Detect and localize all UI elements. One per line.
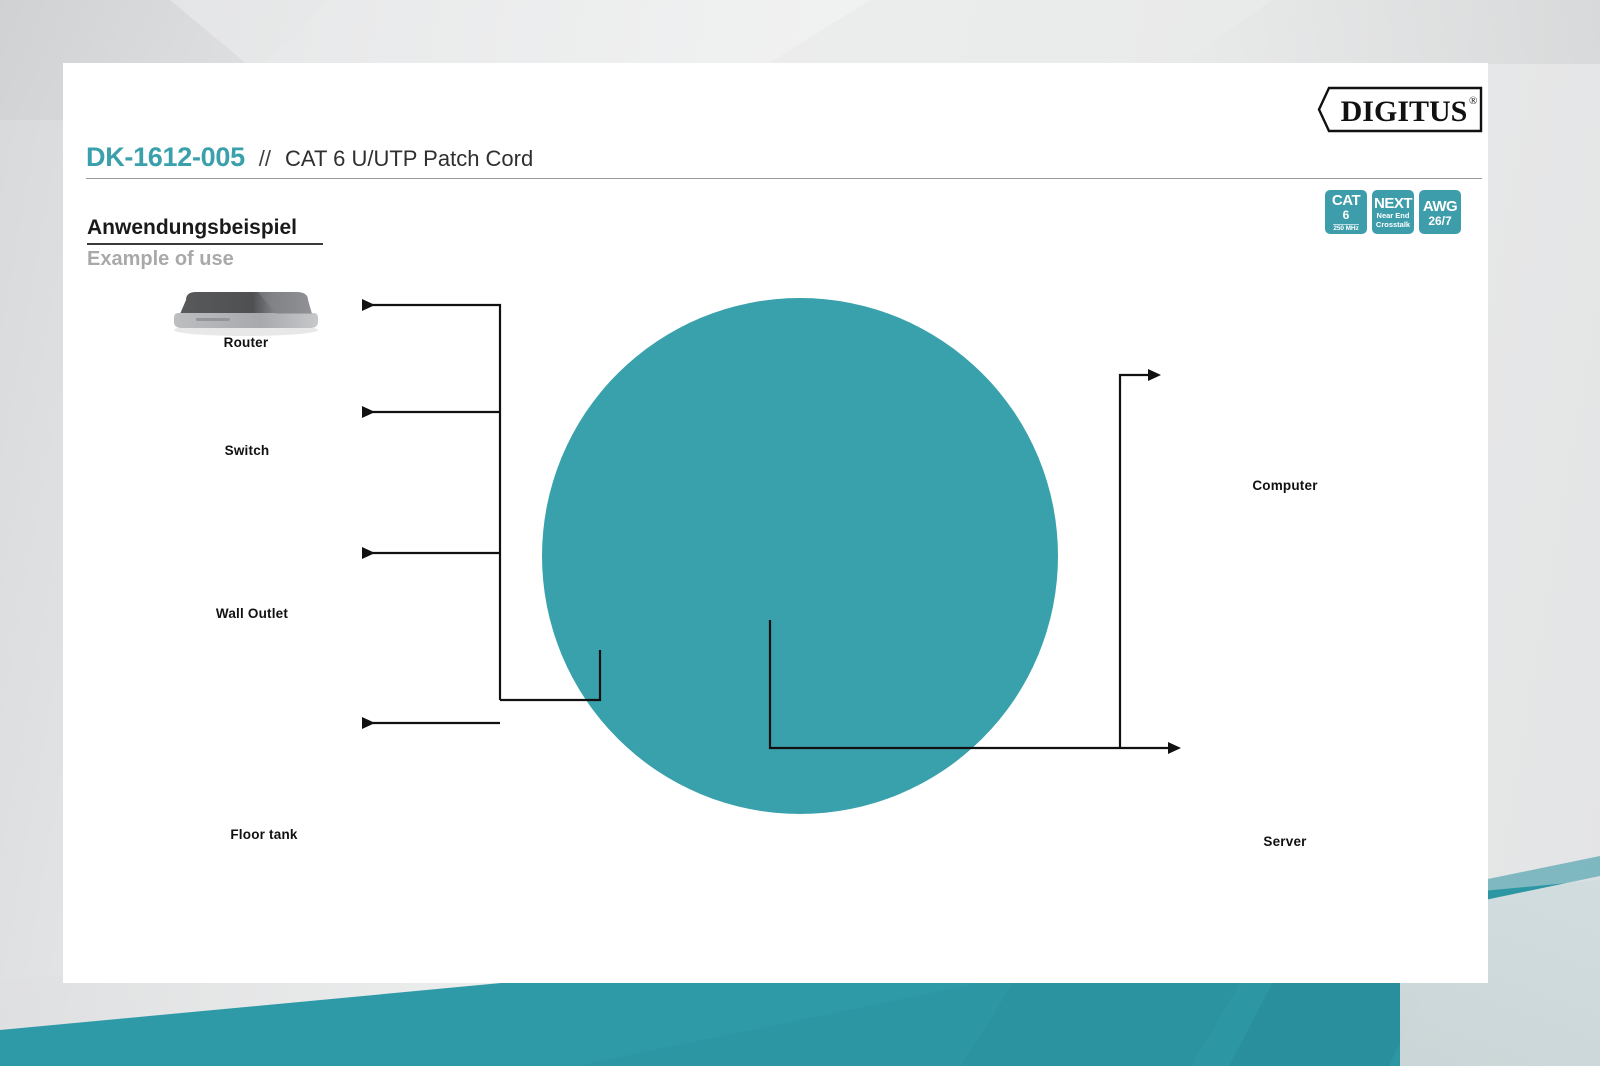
section-heading-en: Example of use [87,248,234,271]
badge-awg-sub: 26/7 [1428,215,1451,228]
badge-next-main: NEXT [1374,196,1412,212]
badge-cat6-sub: 6 [1343,209,1350,222]
title-divider [86,178,1482,179]
certification-badges: CAT 6 250 MHz NEXT Near End Crosstalk AW… [1325,190,1461,234]
product-name: CAT 6 U/UTP Patch Cord [285,146,533,172]
slide-canvas: DIGITUS ® DK-1612-005 // CAT 6 U/UTP Pat… [0,0,1600,1066]
badge-awg: AWG 26/7 [1419,190,1461,234]
badge-cat6: CAT 6 250 MHz [1325,190,1367,234]
badge-awg-main: AWG [1423,199,1457,215]
badge-next-line2: Crosstalk [1376,221,1410,230]
background-facet-top-center [170,0,870,70]
badge-cat6-main: CAT [1332,193,1360,209]
badge-cat6-frequency: 250 MHz [1333,224,1358,233]
label-computer: Computer [1225,478,1345,493]
label-server: Server [1225,834,1345,849]
product-highlight-circle [542,298,1058,814]
digitus-logo: DIGITUS ® [1318,86,1483,133]
label-floor-tank: Floor tank [204,827,324,842]
label-router: Router [186,335,306,350]
section-heading-underline [87,243,323,245]
title-separator: // [259,146,271,172]
section-heading-de: Anwendungsbeispiel [87,216,297,240]
product-sku: DK-1612-005 [86,142,245,173]
label-wall-outlet: Wall Outlet [192,606,312,621]
label-switch: Switch [187,443,307,458]
digitus-logo-text: DIGITUS [1341,95,1468,128]
badge-next: NEXT Near End Crosstalk [1372,190,1414,234]
digitus-logo-registered: ® [1469,95,1477,107]
product-title-row: DK-1612-005 // CAT 6 U/UTP Patch Cord [86,142,1186,173]
